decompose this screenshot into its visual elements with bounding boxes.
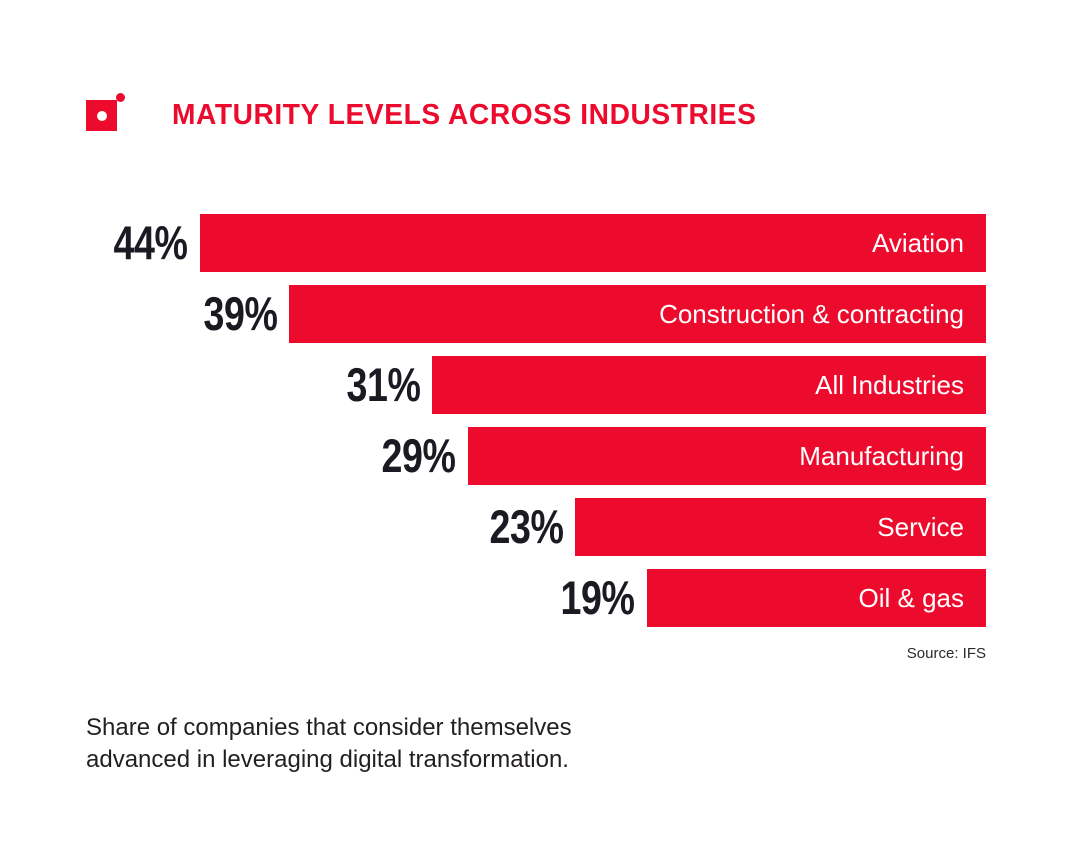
bar-value-label: 23% <box>489 498 563 556</box>
bar-value-label: 44% <box>114 214 188 272</box>
bar-row: 39% Construction & contracting <box>0 285 1080 343</box>
bar-category-label: Oil & gas <box>859 569 965 627</box>
bar-all-industries: All Industries <box>432 356 986 414</box>
bar-row: 19% Oil & gas <box>0 569 1080 627</box>
bar-service: Service <box>575 498 986 556</box>
bar-value-label: 39% <box>203 285 277 343</box>
bar-category-label: Manufacturing <box>799 427 964 485</box>
bar-manufacturing: Manufacturing <box>468 427 986 485</box>
bar-value-label: 19% <box>561 569 635 627</box>
bar-category-label: Service <box>877 498 964 556</box>
logo-inner-dot-shape <box>97 111 107 121</box>
chart-caption: Share of companies that consider themsel… <box>86 712 572 776</box>
bar-category-label: Aviation <box>872 214 964 272</box>
bar-aviation: Aviation <box>200 214 986 272</box>
bar-construction-contracting: Construction & contracting <box>289 285 986 343</box>
bar-category-label: All Industries <box>815 356 964 414</box>
bar-row: 29% Manufacturing <box>0 427 1080 485</box>
bar-value-label: 29% <box>382 427 456 485</box>
logo-outer-dot-shape <box>116 93 125 102</box>
bar-category-label: Construction & contracting <box>659 285 964 343</box>
square-with-dot-logo-icon <box>86 92 132 138</box>
bar-row: 31% All Industries <box>0 356 1080 414</box>
bar-chart: 44% Aviation 39% Construction & contract… <box>0 214 1080 627</box>
source-attribution: Source: IFS <box>907 645 986 662</box>
bar-row: 23% Service <box>0 498 1080 556</box>
chart-header: MATURITY LEVELS ACROSS INDUSTRIES <box>86 92 775 138</box>
bar-row: 44% Aviation <box>0 214 1080 272</box>
page-title: MATURITY LEVELS ACROSS INDUSTRIES <box>172 101 756 130</box>
bar-oil-gas: Oil & gas <box>647 569 986 627</box>
bar-value-label: 31% <box>346 356 420 414</box>
